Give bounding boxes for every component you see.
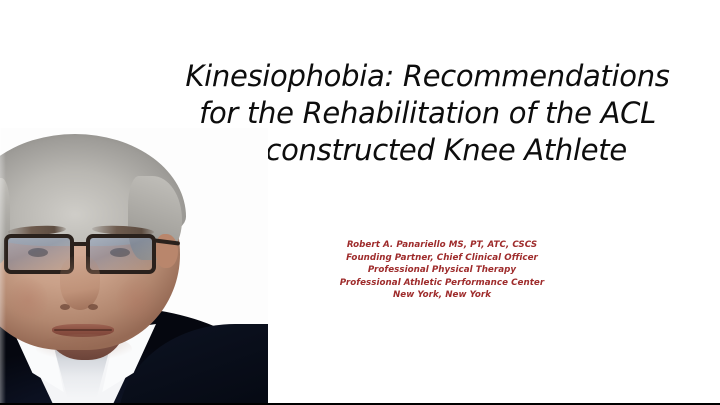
author-organization-2: Professional Athletic Performance Center (292, 277, 592, 290)
presentation-frame: Kinesiophobia: Recommendations for the R… (0, 0, 720, 405)
slide-title-line-2: for the Rehabilitation of the ACL (175, 95, 680, 132)
participant-chin (36, 334, 132, 364)
participant-nose (60, 256, 100, 310)
eyeglasses-icon (0, 128, 268, 405)
author-role: Founding Partner, Chief Clinical Officer (292, 252, 592, 265)
video-edge-fade (0, 128, 6, 405)
participant-video-feed[interactable] (0, 128, 268, 405)
eyeglasses-bridge (72, 242, 90, 246)
author-location: New York, New York (292, 289, 592, 302)
author-affiliation-block: Robert A. Panariello MS, PT, ATC, CSCS F… (292, 239, 592, 302)
author-organization-1: Professional Physical Therapy (292, 264, 592, 277)
eyeglasses-temple-right (154, 238, 180, 245)
participant-lip-line (54, 329, 112, 331)
slide-title-line-1: Kinesiophobia: Recommendations (175, 58, 680, 95)
participant-nostril-right (88, 304, 98, 310)
author-name: Robert A. Panariello MS, PT, ATC, CSCS (292, 239, 592, 252)
participant-nostril-left (60, 304, 70, 310)
